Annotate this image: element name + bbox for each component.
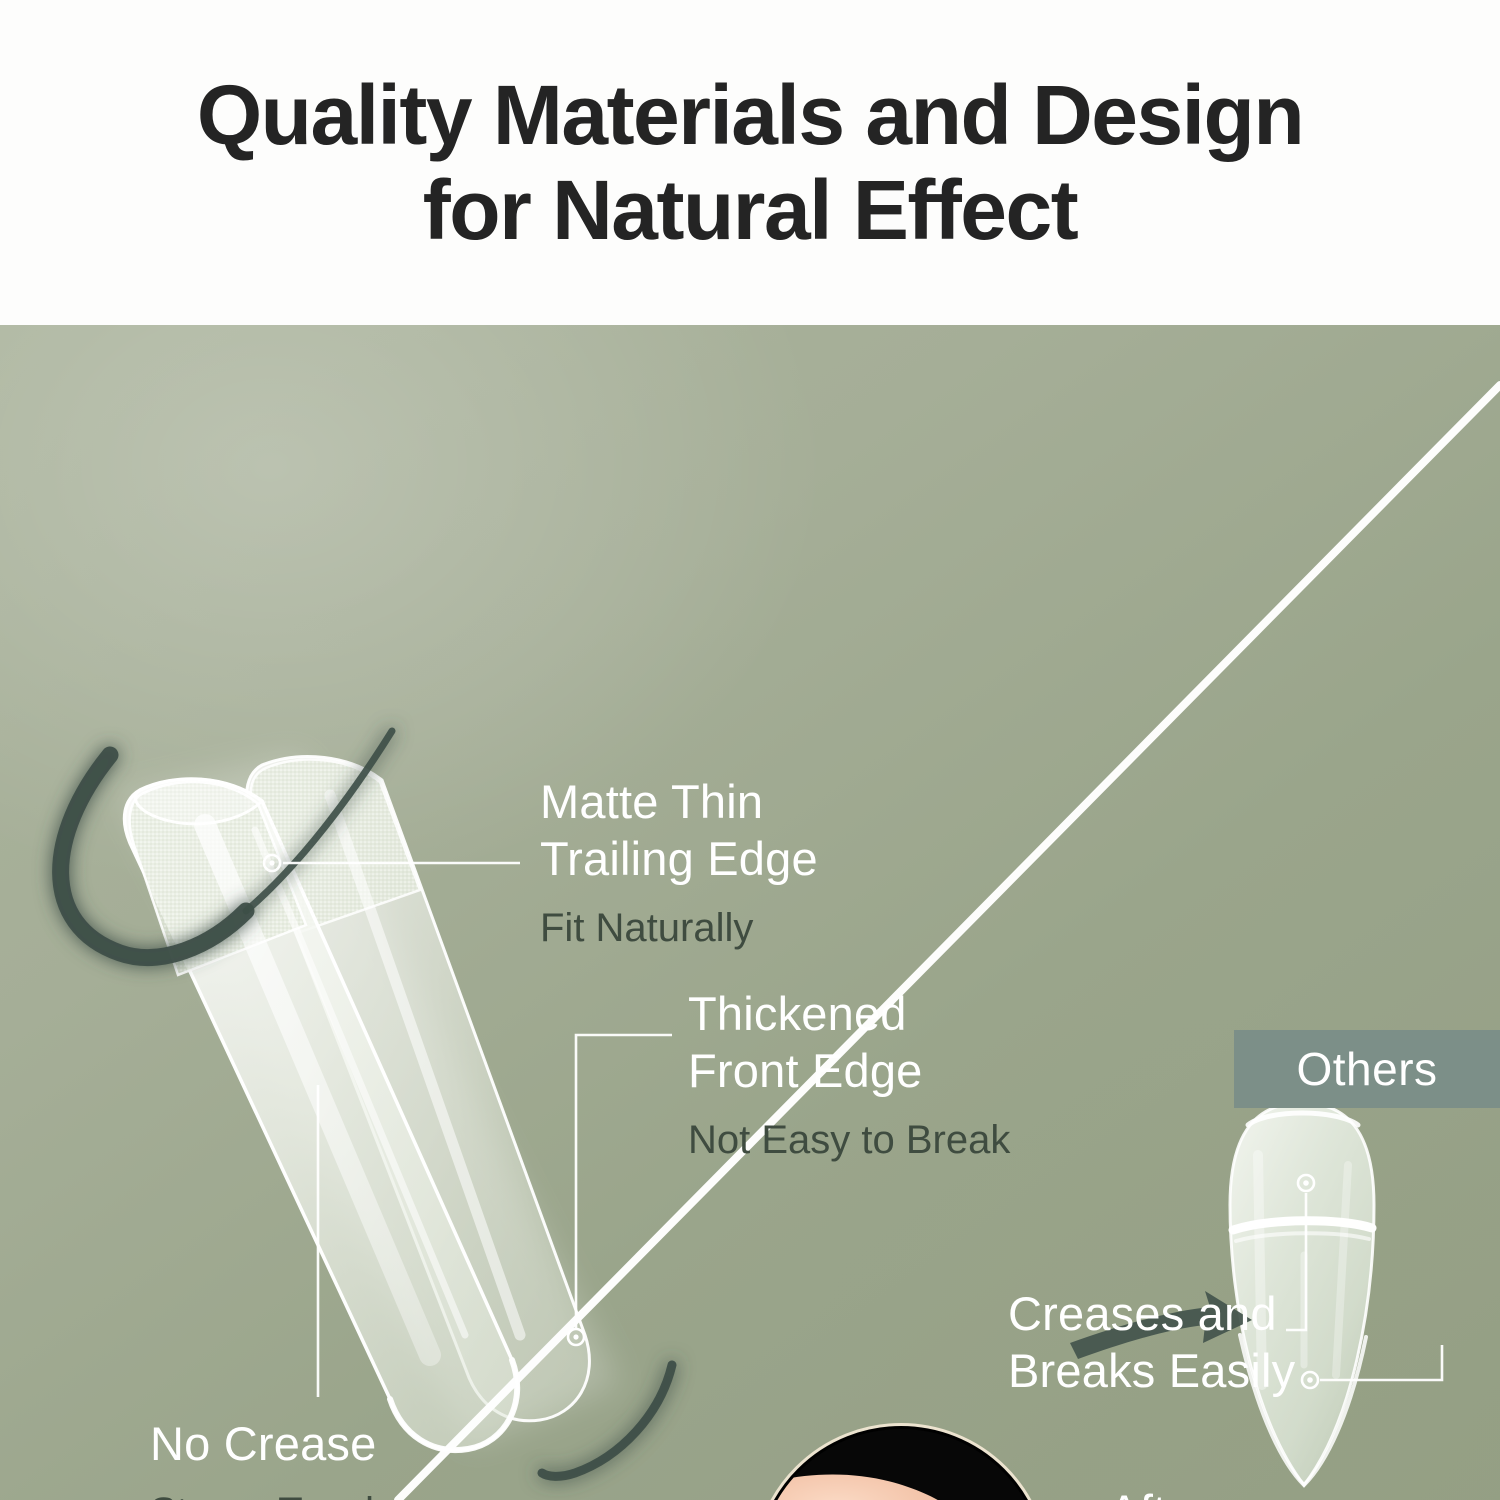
callout-no-crease-sub: Strong Toughness xyxy=(150,1486,472,1500)
leader-line-abs xyxy=(1320,1345,1442,1380)
callout-creases-breaks: Creases and Breaks Easily xyxy=(1008,1285,1295,1400)
page-title-line-2: for Natural Effect xyxy=(423,163,1077,257)
others-badge-label: Others xyxy=(1296,1042,1437,1096)
callout-creases-head: Creases and Breaks Easily xyxy=(1008,1285,1295,1400)
callout-thickened-sub: Not Easy to Break xyxy=(688,1114,1010,1166)
leader-line-thickened xyxy=(576,1035,672,1328)
callout-matte-head: Matte Thin Trailing Edge xyxy=(540,773,818,888)
callout-after-bend-head: After Bend xyxy=(1098,1483,1209,1500)
callout-thickened-front-edge: Thickened Front Edge Not Easy to Break xyxy=(688,985,1010,1166)
callout-matte-trailing-edge: Matte Thin Trailing Edge Fit Naturally xyxy=(540,773,818,954)
photo-inset-bend-demo xyxy=(752,1423,1050,1500)
callout-thickened-head: Thickened Front Edge xyxy=(688,985,1010,1100)
nail-tip-front xyxy=(125,779,518,1450)
leader-node-matte xyxy=(264,855,280,871)
leader-node-thickened xyxy=(568,1329,584,1345)
callout-matte-sub: Fit Naturally xyxy=(540,902,818,954)
page-title-line-1: Quality Materials and Design xyxy=(197,68,1303,162)
header-banner: Quality Materials and Design for Natural… xyxy=(0,0,1500,325)
leader-node-creases xyxy=(1298,1175,1314,1191)
comparison-panel: Matte Thin Trailing Edge Fit Naturally T… xyxy=(0,325,1500,1500)
nail-tip-back xyxy=(247,757,590,1421)
callout-no-crease-head: No Crease xyxy=(150,1415,472,1472)
bend-photo-graphic xyxy=(758,1429,1044,1500)
accent-arc-bottom xyxy=(542,1365,672,1476)
callout-no-crease: No Crease Strong Toughness xyxy=(150,1415,472,1500)
callout-after-bend: After Bend xyxy=(1098,1483,1209,1500)
infographic-root: Quality Materials and Design for Natural… xyxy=(0,0,1500,1500)
accent-arc-top xyxy=(61,731,392,957)
leader-node-abs xyxy=(1302,1372,1318,1388)
badge-others: Others xyxy=(1234,1030,1500,1108)
